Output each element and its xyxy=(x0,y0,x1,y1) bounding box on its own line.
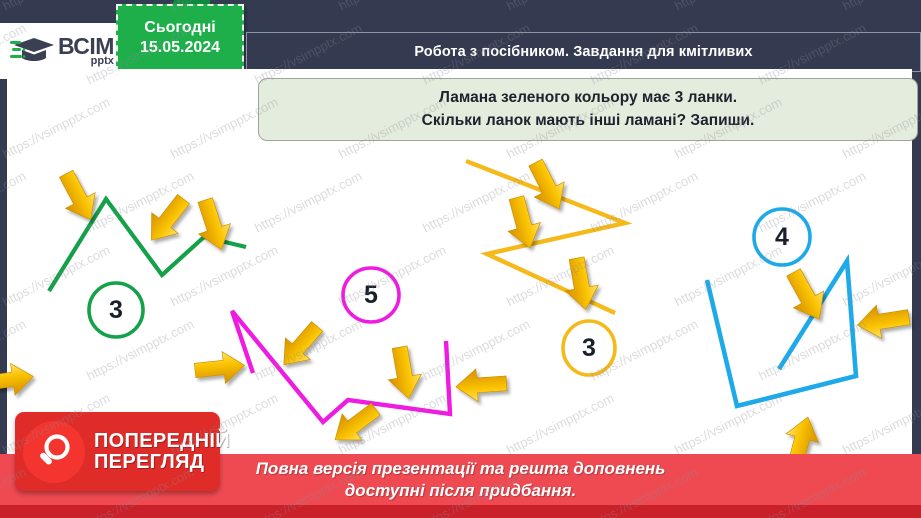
banner-line-1: Повна версія презентації та решта доповн… xyxy=(256,458,666,479)
slide-title-bar: Робота з посібником. Завдання для кмітли… xyxy=(246,32,921,72)
preview-stamp-text: ПОПЕРЕДНІЙ ПЕРЕГЛЯД xyxy=(94,431,230,472)
date-badge-label: Сьогодні xyxy=(144,18,215,38)
yellow-figure-count: 3 xyxy=(569,328,609,368)
banner-bottom-strip xyxy=(0,505,921,518)
preview-stamp-line2: ПЕРЕГЛЯД xyxy=(94,452,230,472)
date-badge-value: 15.05.2024 xyxy=(140,38,220,58)
preview-stamp-line1: ПОПЕРЕДНІЙ xyxy=(94,430,230,452)
slide-body: Ламана зеленого кольору має 3 ланки. Скі… xyxy=(7,69,912,454)
banner-line-2: доступні після придбання. xyxy=(345,480,576,501)
graduation-cap-icon xyxy=(10,34,56,68)
slide-canvas: ВСІМ pptx Сьогодні 15.05.2024 Робота з п… xyxy=(0,0,921,518)
task-line-2: Скільки ланок мають інші ламані? Запиши. xyxy=(422,110,755,132)
task-line-1: Ламана зеленого кольору має 3 ланки. xyxy=(439,87,737,109)
green-figure-count: 3 xyxy=(96,290,136,330)
preview-stamp: ПОПЕРЕДНІЙ ПЕРЕГЛЯД xyxy=(15,412,220,491)
cyan-figure-count: 4 xyxy=(762,217,802,257)
magnifier-icon xyxy=(23,421,85,483)
magenta-figure-count: 5 xyxy=(351,275,391,315)
page-title: Робота з посібником. Завдання для кмітли… xyxy=(414,44,752,60)
task-prompt-box: Ламана зеленого кольору має 3 ланки. Скі… xyxy=(258,78,918,141)
today-date-badge: Сьогодні 15.05.2024 xyxy=(116,4,244,72)
